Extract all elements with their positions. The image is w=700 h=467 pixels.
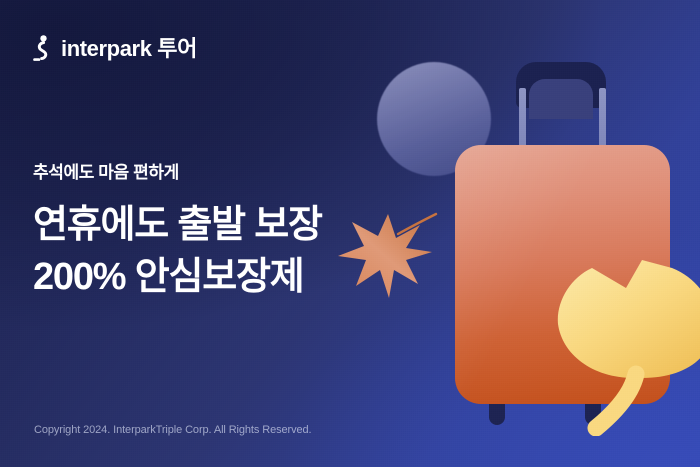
promo-headline-line-2: 200% 안심보장제	[33, 251, 322, 303]
ginkgo-leaf-icon	[556, 258, 700, 436]
promo-eyebrow: 추석에도 마음 편하게	[33, 163, 322, 183]
promo-copy-block: 추석에도 마음 편하게 연휴에도 출발 보장 200% 안심보장제	[33, 163, 322, 303]
brand-logo-text: interpark 투어	[61, 38, 197, 60]
suitcase-handle-grip	[516, 62, 606, 108]
promo-banner: interpark 투어 추석에도 마음 편하게 연휴에도 출발 보장 200%…	[0, 0, 700, 467]
copyright-text: Copyright 2024. InterparkTriple Corp. Al…	[34, 424, 311, 436]
maple-leaf-icon	[336, 204, 442, 302]
promo-headline-line-1: 연휴에도 출발 보장	[33, 199, 322, 251]
brand-logo[interactable]: interpark 투어	[33, 35, 197, 62]
interpark-walking-person-icon	[33, 35, 52, 62]
